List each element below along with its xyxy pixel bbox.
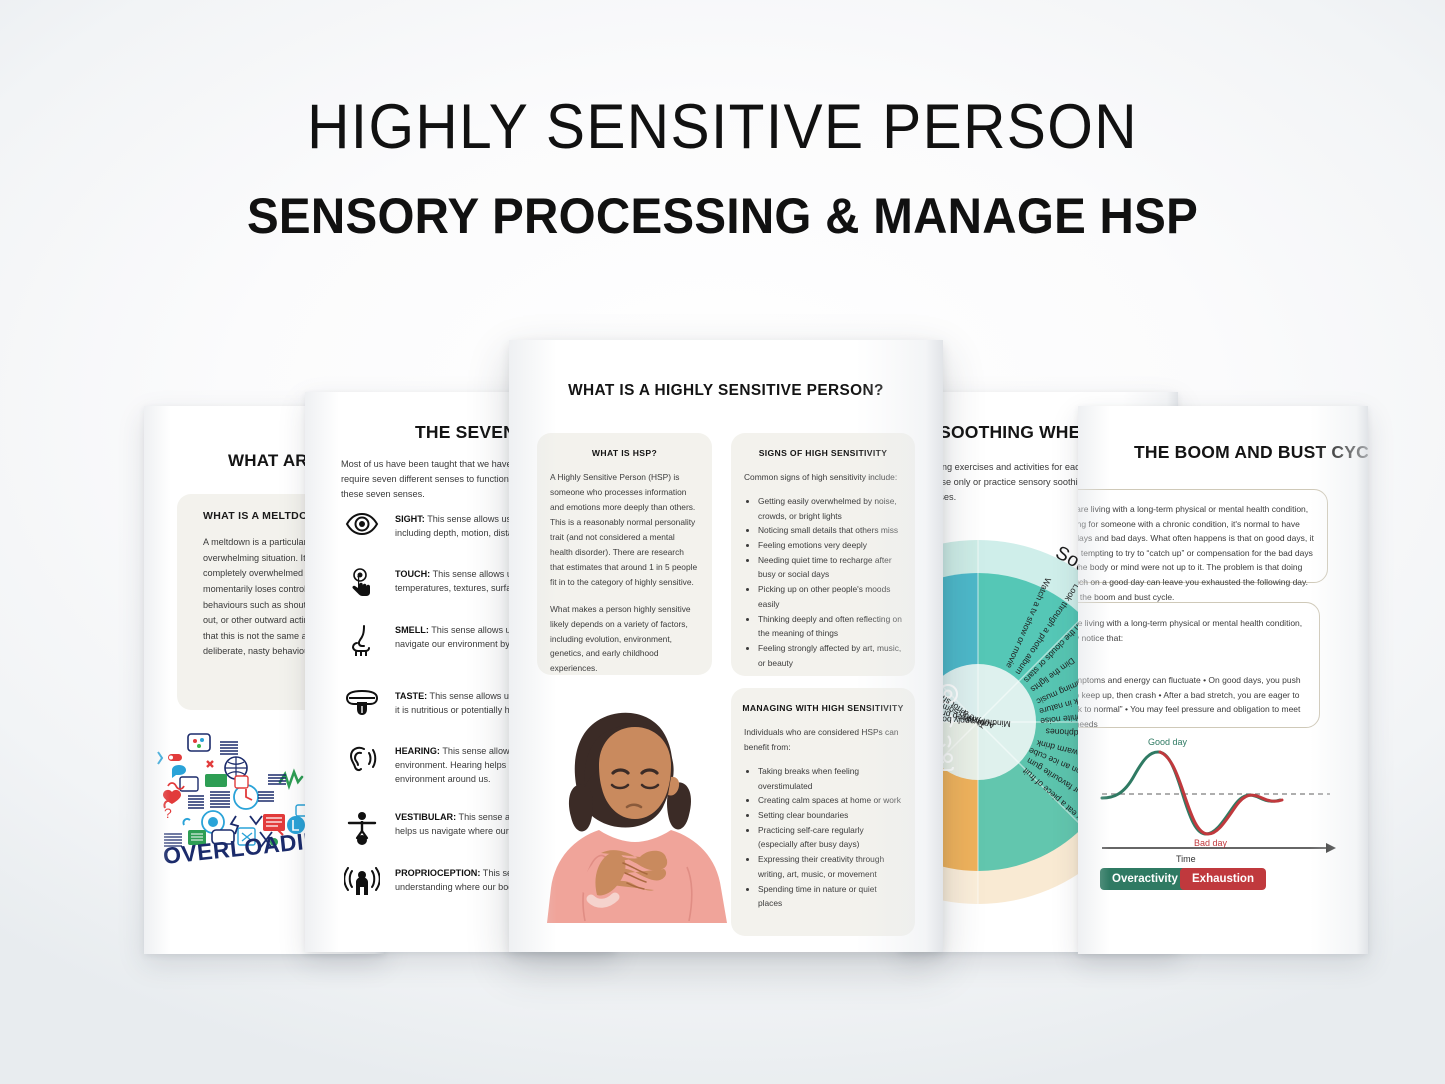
boom-bust-title: THE BOOM AND BUST CYCLE: [1134, 442, 1368, 463]
what-is-hsp-paragraph-2: What makes a person highly sensitive lik…: [550, 602, 699, 677]
signs-intro: Common signs of high sensitivity include…: [744, 470, 902, 485]
list-item: Spending time in nature or quiet places: [758, 882, 902, 911]
legend-exhaustion: Exhaustion: [1180, 868, 1266, 890]
list-item: Noticing small details that others miss: [758, 523, 902, 538]
list-item: Creating calm spaces at home or work: [758, 793, 902, 808]
boom-bust-symptoms-card: If you are living with a long-term physi…: [1078, 602, 1320, 728]
list-item: Taking breaks when feeling overstimulate…: [758, 764, 902, 793]
managing-high-sensitivity-card: MANAGING WITH HIGH SENSITIVITY Individua…: [731, 688, 915, 936]
what-is-hsp-paragraph-1: A Highly Sensitive Person (HSP) is someo…: [550, 470, 699, 590]
hsp-sheet-title: WHAT IS A HIGHLY SENSITIVE PERSON?: [509, 382, 943, 400]
what-is-hsp-card: WHAT IS HSP? A Highly Sensitive Person (…: [537, 433, 712, 675]
list-item: Needing quiet time to recharge after bus…: [758, 553, 902, 582]
boom-bust-symptoms-items: Your symptoms and energy can fluctuate •…: [1078, 673, 1309, 731]
boom-bust-explainer-text: If you are living with a long-term physi…: [1078, 502, 1315, 604]
boom-bust-explainer-card: If you are living with a long-term physi…: [1078, 489, 1328, 583]
tongue-icon: [341, 689, 383, 716]
signs-heading: SIGNS OF HIGH SENSITIVITY: [741, 448, 905, 458]
worksheet-fan: WHAT ARE MELTDOWNS? WHAT IS A MELTDOWN? …: [0, 0, 1445, 1084]
boom-bust-chart: Good day Bad day Time: [1098, 736, 1338, 866]
signs-of-high-sensitivity-card: SIGNS OF HIGH SENSITIVITY Common signs o…: [731, 433, 915, 676]
nose-icon: [341, 623, 383, 656]
balance-person-icon: [341, 810, 383, 845]
chart-x-arrow: [1326, 843, 1336, 853]
chart-good-curve: [1102, 752, 1280, 834]
list-item: Setting clear boundaries: [758, 808, 902, 823]
chart-bad-day-label: Bad day: [1194, 838, 1228, 848]
list-item: Feeling strongly affected by art, music,…: [758, 641, 902, 670]
list-item: Expressing their creativity through writ…: [758, 852, 902, 881]
svg-text:?: ?: [164, 805, 172, 821]
chart-good-day-label: Good day: [1148, 737, 1188, 747]
list-item: Feeling emotions very deeply: [758, 538, 902, 553]
eye-icon: [341, 512, 383, 535]
list-item: Picking up on other people's moods easil…: [758, 582, 902, 611]
managing-list: Taking breaks when feeling overstimulate…: [758, 764, 902, 911]
sheet-highly-sensitive-person[interactable]: WHAT IS A HIGHLY SENSITIVE PERSON? WHAT …: [509, 340, 943, 952]
woman-hand-on-chest-illustration: [539, 705, 731, 923]
chart-x-axis-label: Time: [1176, 854, 1196, 864]
signs-list: Getting easily overwhelmed by noise, cro…: [758, 494, 902, 670]
legend-overactivity: Overactivity: [1100, 868, 1190, 890]
what-is-hsp-heading: WHAT IS HSP?: [547, 448, 702, 458]
touch-hand-icon: [341, 567, 383, 598]
sheet-boom-and-bust-cycle[interactable]: THE BOOM AND BUST CYCLE If you are livin…: [1078, 406, 1368, 954]
ear-icon: [341, 744, 383, 775]
list-item: Thinking deeply and often reflecting on …: [758, 612, 902, 641]
body-awareness-icon: [341, 866, 383, 897]
managing-heading: MANAGING WITH HIGH SENSITIVITY: [741, 703, 905, 713]
list-item: Getting easily overwhelmed by noise, cro…: [758, 494, 902, 523]
managing-intro: Individuals who are considered HSPs can …: [744, 725, 902, 755]
list-item: Practicing self-care regularly (especial…: [758, 823, 902, 852]
boom-bust-symptoms-heading: If you are living with a long-term physi…: [1078, 616, 1309, 645]
